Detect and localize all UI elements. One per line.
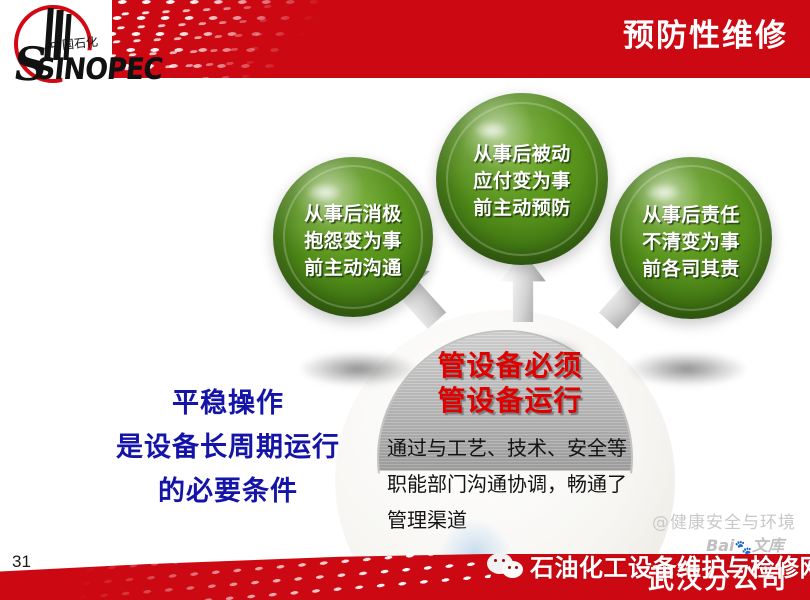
wechat-eye [502, 559, 505, 562]
center-headline-line-2: 管设备运行 [395, 383, 625, 418]
sphere-left-label: 从事后消极 抱怨变为事 前主动沟通 [273, 201, 433, 282]
left-statement: 平稳操作 是设备长周期运行 的必要条件 [78, 382, 378, 514]
wechat-eye [508, 566, 511, 569]
center-body-line-3: 管理渠道 [387, 502, 669, 538]
wechat-eye [494, 559, 497, 562]
center-body-line-1: 通过与工艺、技术、安全等 [387, 430, 669, 466]
sphere-right-line-1: 从事后责任 [610, 202, 772, 229]
wechat-bubble-small [502, 561, 523, 578]
sphere-left-line-1: 从事后消极 [273, 201, 433, 228]
sphere-highlight [474, 121, 508, 140]
watermark-hse: @健康安全与环境 [652, 508, 796, 533]
sphere-right-shadow [628, 352, 746, 386]
page-title: 预防性维修 [623, 14, 788, 58]
sinopec-logo: 中国石化 S SINOPEC [6, 2, 118, 94]
sphere-right-line-3: 前各司其责 [610, 256, 772, 283]
sphere-left-line-2: 抱怨变为事 [273, 228, 433, 255]
sphere-right-line-2: 不清变为事 [610, 229, 772, 256]
center-body-text: 通过与工艺、技术、安全等 职能部门沟通协调，畅通了 管理渠道 [387, 430, 669, 538]
sphere-highlight [307, 183, 341, 202]
left-statement-line-1: 平稳操作 [78, 382, 378, 426]
page-number: 31 [12, 552, 31, 572]
sphere-left-line-3: 前主动沟通 [273, 255, 433, 282]
sphere-middle-label: 从事后被动 应付变为事 前主动预防 [436, 141, 608, 222]
logo-wordmark: SINOPEC [34, 52, 164, 86]
sphere-highlight [646, 183, 680, 202]
center-headline-line-1: 管设备必须 [395, 348, 625, 383]
sphere-middle[interactable]: 从事后被动 应付变为事 前主动预防 [436, 93, 608, 265]
watermark-site-name: 石油化工设备维护与检修网 [530, 548, 810, 583]
center-body-line-2: 职能部门沟通协调，畅通了 [387, 466, 669, 502]
sphere-middle-line-1: 从事后被动 [436, 141, 608, 168]
left-statement-line-3: 的必要条件 [78, 470, 378, 514]
sphere-left[interactable]: 从事后消极 抱怨变为事 前主动沟通 [273, 157, 433, 317]
sphere-right[interactable]: 从事后责任 不清变为事 前各司其责 [610, 157, 772, 319]
sphere-right-label: 从事后责任 不清变为事 前各司其责 [610, 202, 772, 283]
center-headline: 管设备必须 管设备运行 [395, 348, 625, 418]
wechat-eye [515, 566, 518, 569]
slide-canvas: 预防性维修 中国石化 S SINOPEC 从事后消极 抱怨变为事 前主动沟通 从… [0, 0, 810, 600]
logo-chinese-name: 中国石化 [49, 33, 99, 55]
wechat-icon [487, 553, 525, 583]
left-statement-line-2: 是设备长周期运行 [78, 426, 378, 470]
sphere-middle-line-2: 应付变为事 [436, 168, 608, 195]
sphere-middle-line-3: 前主动预防 [436, 195, 608, 222]
